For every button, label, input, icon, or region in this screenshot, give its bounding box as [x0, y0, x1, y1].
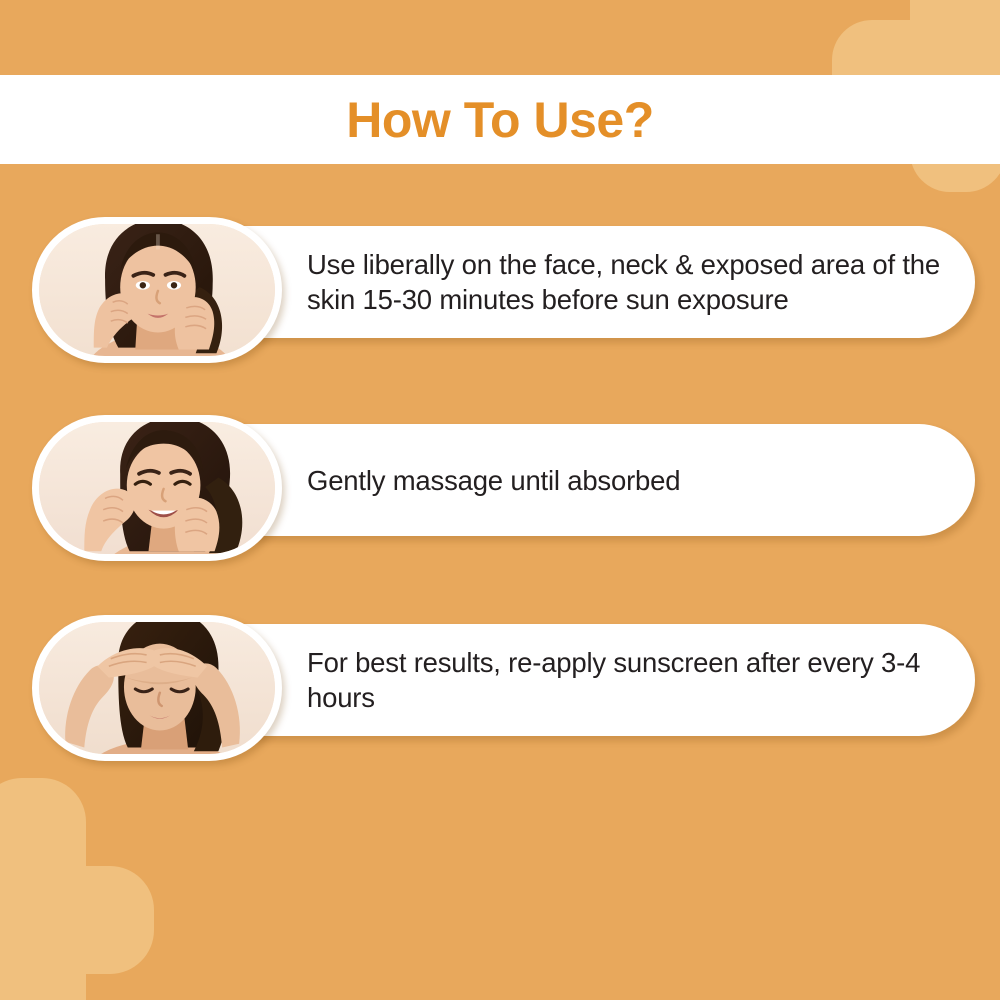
woman-massaging-face-smiling-photo — [32, 415, 282, 561]
step-text-3: For best results, re-apply sunscreen aft… — [307, 645, 945, 715]
how-to-use-infographic: How To Use? Use liberally on the face, n… — [0, 0, 1000, 1000]
photo-frame — [39, 422, 275, 554]
step-text-1: Use liberally on the face, neck & expose… — [307, 247, 945, 317]
steps-list: Use liberally on the face, neck & expose… — [0, 0, 1000, 1000]
woman-applying-cream-to-cheeks-photo — [32, 217, 282, 363]
woman-applying-cream-to-forehead-photo — [32, 615, 282, 761]
photo-frame — [39, 622, 275, 754]
step-text-2: Gently massage until absorbed — [307, 463, 680, 498]
photo-frame — [39, 224, 275, 356]
